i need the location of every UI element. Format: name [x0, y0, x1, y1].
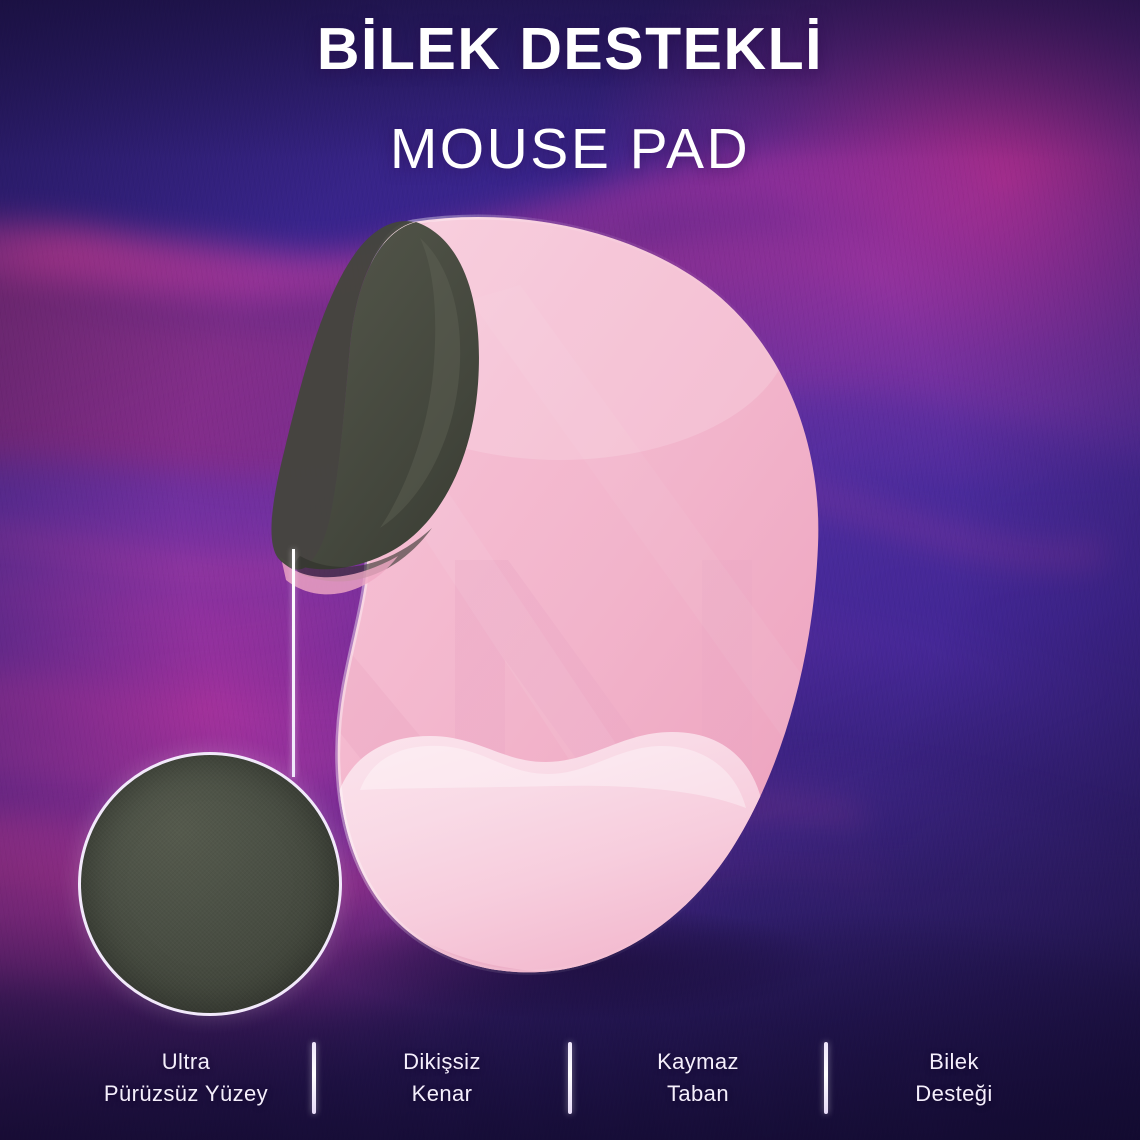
feature-item-seamless-edge: Dikişsiz Kenar [316, 1046, 568, 1110]
feature-label-line-1: Kaymaz [572, 1046, 824, 1078]
feature-label-line-2: Kenar [316, 1078, 568, 1110]
title-line-2: MOUSE PAD [0, 121, 1140, 178]
feature-label-line-2: Pürüzsüz Yüzey [60, 1078, 312, 1110]
surface-closeup-circle [78, 752, 342, 1016]
poster-title: BİLEK DESTEKLİ MOUSE PAD [0, 20, 1140, 178]
feature-label-line-1: Bilek [828, 1046, 1080, 1078]
feature-label-line-1: Ultra [60, 1046, 312, 1078]
callout-connector-line [292, 549, 295, 777]
feature-label-line-2: Taban [572, 1078, 824, 1110]
title-line-1: BİLEK DESTEKLİ [0, 20, 1140, 79]
feature-item-ultra-smooth-surface: Ultra Pürüzsüz Yüzey [60, 1046, 312, 1110]
product-poster: BİLEK DESTEKLİ MOUSE PAD [0, 0, 1140, 1140]
feature-item-wrist-support: Bilek Desteği [828, 1046, 1080, 1110]
feature-label-line-1: Dikişsiz [316, 1046, 568, 1078]
feature-label-line-2: Desteği [828, 1078, 1080, 1110]
feature-item-non-slip-base: Kaymaz Taban [572, 1046, 824, 1110]
surface-texture [81, 755, 339, 1013]
feature-list: Ultra Pürüzsüz Yüzey Dikişsiz Kenar Kaym… [60, 1042, 1080, 1114]
